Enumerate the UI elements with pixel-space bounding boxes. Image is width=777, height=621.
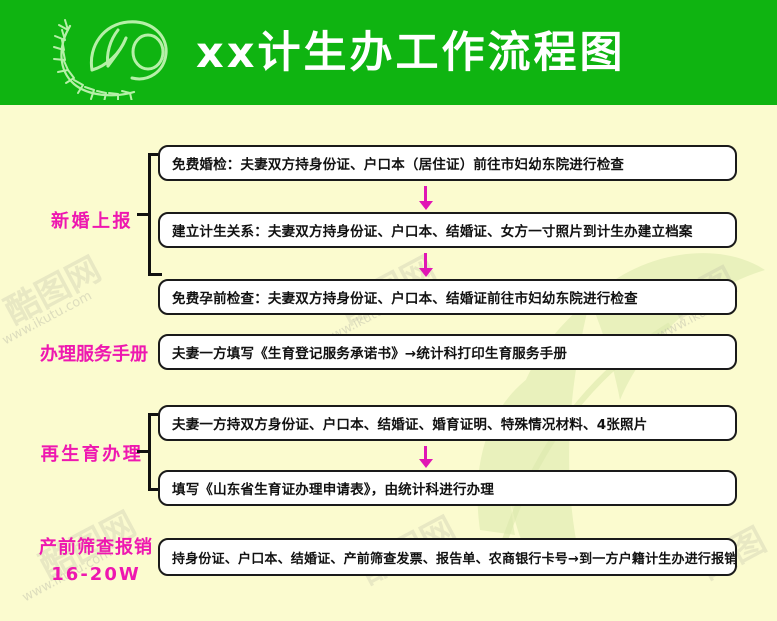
family-planning-logo-icon bbox=[48, 8, 188, 100]
page-title: xx计生办工作流程图 bbox=[196, 23, 625, 83]
group-label-1: 新婚上报 bbox=[40, 209, 144, 234]
flow-step-box: 夫妻一方持双方身份证、户口本、结婚证、婚育证明、特殊情况材料、4张照片 bbox=[158, 405, 737, 441]
group-label-2: 办理服务手册 bbox=[33, 342, 155, 367]
flow-arrow-down bbox=[419, 186, 433, 210]
group-label-4-line2: 16-20W bbox=[34, 562, 158, 588]
flow-step-box: 夫妻一方填写《生育登记服务承诺书》→统计科打印生育服务手册 bbox=[158, 334, 737, 370]
watermark-text: www.ikutu.com bbox=[0, 288, 95, 348]
group-label-4-line1: 产前筛查报销 bbox=[34, 535, 158, 561]
flow-step-box: 建立计生关系：夫妻双方持身份证、户口本、结婚证、女方一寸照片到计生办建立档案 bbox=[158, 212, 737, 248]
watermark-text: 酷图网 bbox=[0, 242, 108, 333]
group-label-3: 再生育办理 bbox=[40, 442, 144, 467]
header-banner: xx计生办工作流程图 bbox=[0, 0, 777, 105]
flow-step-box: 填写《山东省生育证办理申请表》，由统计科进行办理 bbox=[158, 470, 737, 506]
flow-arrow-down bbox=[419, 446, 433, 468]
flow-step-box: 免费孕前检查：夫妻双方持身份证、户口本、结婚证前往市妇幼东院进行检查 bbox=[158, 279, 737, 315]
poster-root: 酷图网 K酷图网 K酷 www.ikutu.com www.ikutu.com … bbox=[0, 0, 777, 621]
flow-step-box: 免费婚检：夫妻双方持身份证、户口本（居住证）前往市妇幼东院进行检查 bbox=[158, 145, 737, 181]
flow-step-box: 持身份证、户口本、结婚证、产前筛查发票、报告单、农商银行卡号→到一方户籍计生办进… bbox=[158, 538, 737, 576]
flow-arrow-down bbox=[419, 253, 433, 277]
